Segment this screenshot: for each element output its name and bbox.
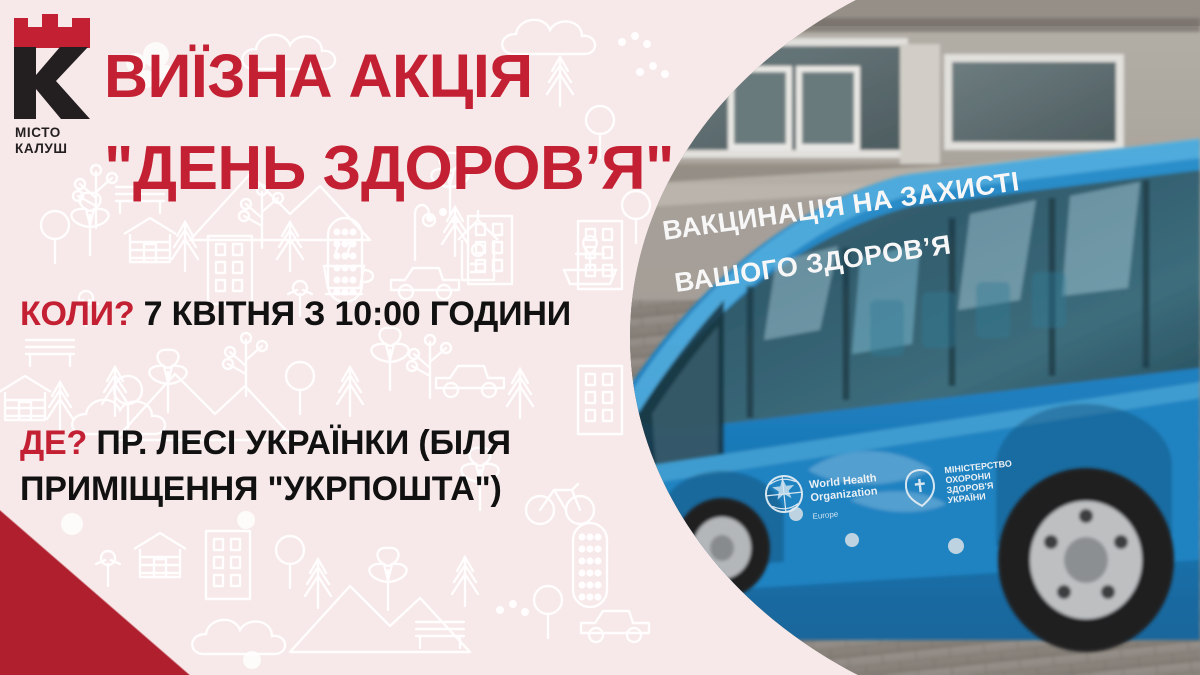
headline-line-1: ВИЇЗНА АКЦІЯ: [104, 46, 664, 107]
corner-triangle-decoration: [0, 510, 190, 675]
where-value-line-1: ПР. ЛЕСІ УКРАЇНКИ (БІЛЯ: [96, 424, 511, 462]
when-label: КОЛИ?: [20, 295, 134, 333]
crown-icon: [12, 14, 100, 48]
info-when-row: КОЛИ? 7 КВІТНЯ З 10:00 ГОДИНИ: [20, 295, 640, 334]
event-info: КОЛИ? 7 КВІТНЯ З 10:00 ГОДИНИ ДЕ? ПР. ЛЕ…: [20, 295, 640, 509]
logo-caption-line1: МІСТО: [15, 125, 104, 141]
photo-mask: ВАКЦИНАЦІЯ НА ЗАХИСТІ ВАШОГО ЗДОРОВ’Я Wo…: [600, 0, 1200, 675]
logo-caption-line2: КАЛУШ: [15, 141, 104, 157]
where-label: ДЕ?: [20, 424, 87, 462]
logo-caption: МІСТО КАЛУШ: [12, 125, 104, 157]
letter-k-icon: [12, 47, 100, 119]
headline-line-2: "ДЕНЬ ЗДОРОВ’Я": [104, 138, 664, 200]
headline: ВИЇЗНА АКЦІЯ "ДЕНЬ ЗДОРОВ’Я": [104, 46, 664, 200]
info-where-row: ДЕ? ПР. ЛЕСІ УКРАЇНКИ (БІЛЯ ПРИМІЩЕННЯ "…: [20, 424, 640, 509]
vaccination-bus-photo: ВАКЦИНАЦІЯ НА ЗАХИСТІ ВАШОГО ЗДОРОВ’Я Wo…: [600, 0, 1200, 675]
when-value: 7 КВІТНЯ З 10:00 ГОДИНИ: [144, 295, 571, 333]
poster-canvas: МІСТО КАЛУШ ВИЇЗНА АКЦІЯ "ДЕНЬ ЗДОРОВ’Я"…: [0, 0, 1200, 675]
kalush-city-logo: МІСТО КАЛУШ: [12, 14, 104, 162]
where-value-line-2: ПРИМІЩЕННЯ "УКРПОШТА"): [20, 470, 640, 509]
photo-panel: ВАКЦИНАЦІЯ НА ЗАХИСТІ ВАШОГО ЗДОРОВ’Я Wo…: [600, 0, 1200, 675]
